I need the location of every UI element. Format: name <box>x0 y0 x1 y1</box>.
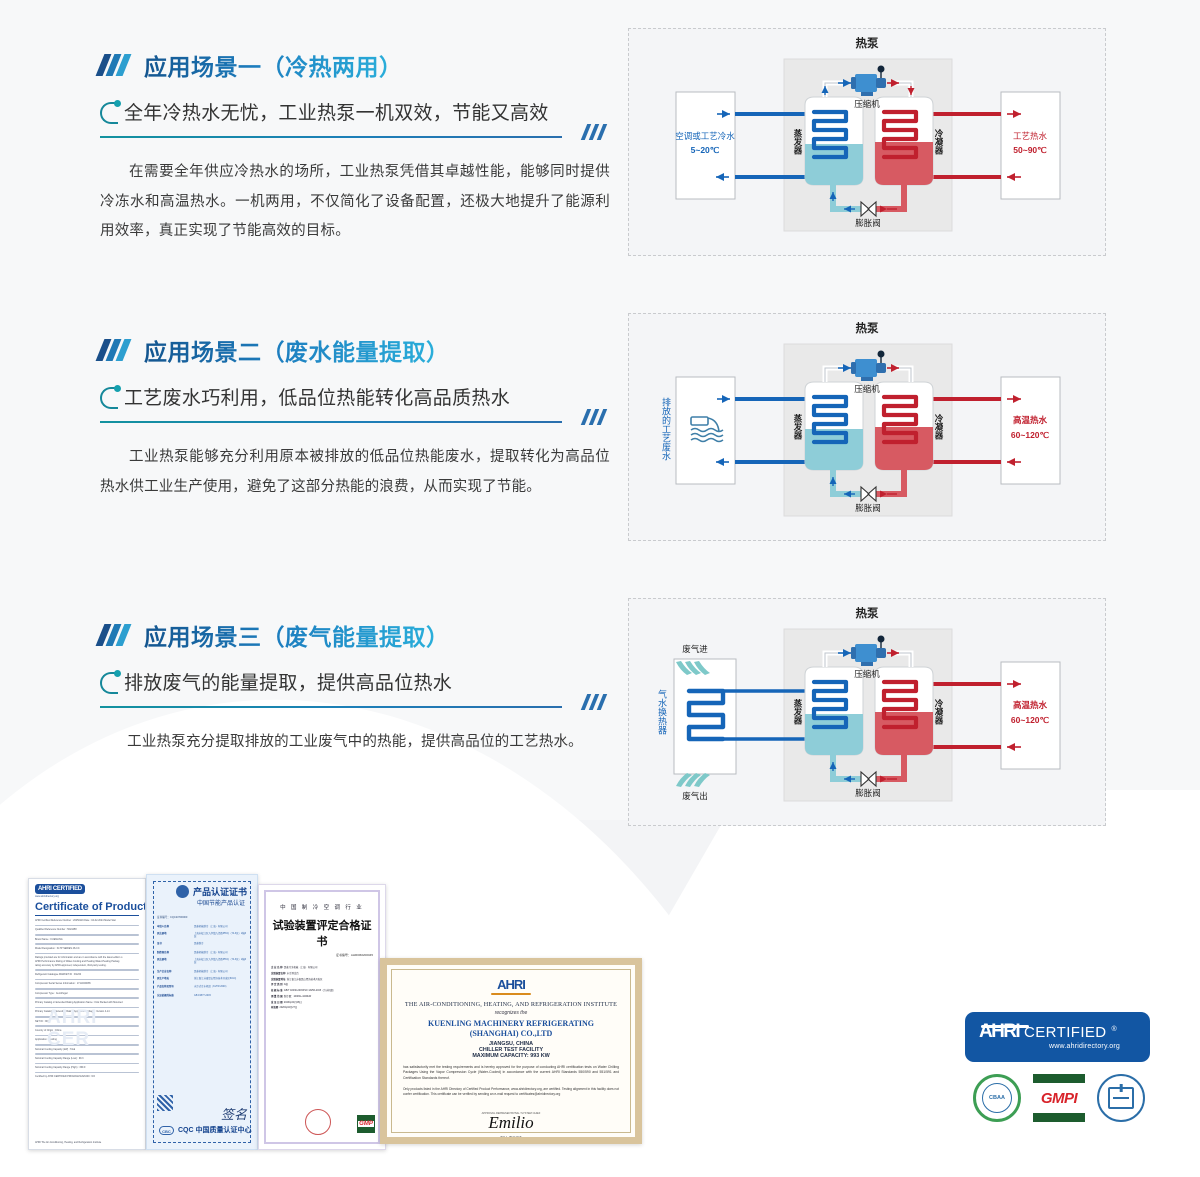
scenario-3-subtitle-wrap: 排放废气的能量提取，提供高品位热水 <box>100 668 610 710</box>
red-stamp-icon <box>305 1109 331 1135</box>
scenario-3-body: 工业热泵充分提取排放的工业废气中的热能，提供高品位的工艺热水。 <box>100 728 610 758</box>
exhaust-out-arrows-icon <box>676 773 710 787</box>
scenario-2-subtitle-wrap: 工艺废水巧利用，低品位热能转化高品质热水 <box>100 383 610 425</box>
ahri-facility-signer: BILL THUNS <box>403 1136 619 1140</box>
exhaust-inlet-label: 废气进 <box>682 644 708 654</box>
industry-logo-row: CBAA GMPI <box>973 1074 1165 1122</box>
ahri-facility-org: THE AIR-CONDITIONING, HEATING, AND REFRI… <box>403 1001 619 1008</box>
certificates-gallery: AHRI CERTIFIED www.ahridirectory.org Cer… <box>0 862 700 1162</box>
certificate-body-lines: AHRI Certified Reference Number : 202501… <box>35 919 139 1079</box>
diagram-1-svg: 压缩机 膨胀阀 蒸发器 冷凝器 空调或工艺冷水 5~20℃ 工艺热水 50~90… <box>629 29 1107 257</box>
qr-code-icon <box>157 1095 173 1111</box>
left-box-label-1: 空调或工艺冷水 <box>675 131 735 141</box>
right-box-value-1: 50~90℃ <box>1013 145 1047 155</box>
scenario-2-diagram: 热泵 <box>628 313 1106 541</box>
ahri-watermark: AHRI CER <box>47 1007 145 1051</box>
ahri-facility-body2: Only products listed in the AHRI Directo… <box>403 1087 619 1098</box>
certificate-footer: AHRI The Air-Conditioning, Heating, and … <box>35 1141 139 1145</box>
cnas-logo[interactable] <box>1097 1074 1145 1122</box>
scenario-2-title: 应用场景二（废水能量提取） <box>144 333 450 367</box>
cert3-fields: 企 业 名 称: 昆菱冷冻机械（上海）有限公司 试验装置名称: 水冷测试台 试验… <box>271 965 373 1011</box>
ahri-facility-capacity: MAXIMUM CAPACITY: 993 KW <box>403 1053 619 1059</box>
diagram-3-svg: 废气进 废气出 气水换热器 <box>629 599 1107 827</box>
subtitle-rule <box>100 136 562 138</box>
rule-slashes-icon <box>584 124 610 140</box>
right-box-value-3: 60~120℃ <box>1011 715 1050 725</box>
ahri-facility-signature: Emilio <box>403 1113 619 1133</box>
ahri-badge-brand: AHRI CERTIFIED <box>35 884 85 894</box>
right-box-label-1: 工艺热水 <box>1013 131 1048 141</box>
ahri-logo-url: www.ahridirectory.org <box>1049 1043 1120 1050</box>
certificate-ahri-facility[interactable]: AHRI THE AIR-CONDITIONING, HEATING, AND … <box>380 958 642 1144</box>
right-box-label-2: 高温热水 <box>1013 415 1048 425</box>
right-box-value-2: 60~120℃ <box>1011 430 1050 440</box>
rule-slashes-icon <box>584 409 610 425</box>
exhaust-outlet-label: 废气出 <box>682 791 708 801</box>
cert3-header: 中 国 制 冷 空 调 行 业 <box>271 903 373 911</box>
diagram-2-svg: 压缩机 膨胀阀 蒸发器 冷凝器 排放的工艺废水 <box>629 314 1107 542</box>
cqc-certno: 证书编号：CQC23700000 <box>157 915 247 919</box>
cert3-docno: 证书编号：AHRI060200045 <box>271 953 373 957</box>
slashes-icon <box>100 624 134 646</box>
scenario-1-text: 应用场景一（冷热两用） 全年冷热水无忧，工业热泵一机双效，节能又高效 在需要全年… <box>100 48 610 247</box>
cbaa-logo-label: CBAA <box>982 1083 1012 1113</box>
ahri-badge-url: www.ahridirectory.org <box>35 895 139 898</box>
ahri-facility-body1: has satisfactorily met the testing requi… <box>403 1065 619 1082</box>
cqc-fields: 申请人名称昆菱机械制冷（上海）有限公司 其注册地上海市松江区九亭镇九泾路655号… <box>157 925 247 998</box>
cqc-stamp: CQC 中国质量认证中心 <box>178 1125 252 1135</box>
subtitle-rule <box>100 706 562 708</box>
ahri-certified-logo[interactable]: AHRI CERTIFIED ® www.ahridirectory.org <box>965 1012 1150 1062</box>
scenario-2-text: 应用场景二（废水能量提取） 工艺废水巧利用，低品位热能转化高品质热水 工业热泵能… <box>100 333 610 502</box>
gmpi-logo-label: GMPI <box>1033 1083 1085 1113</box>
scenario-3-title: 应用场景三（废气能量提取） <box>144 618 450 652</box>
scenario-1-heading: 应用场景一（冷热两用） <box>100 48 610 82</box>
gmpi-logo[interactable]: GMPI <box>1033 1074 1085 1122</box>
condenser-label-1: 冷凝器 <box>934 128 944 155</box>
scenario-section-2: 应用场景二（废水能量提取） 工艺废水巧利用，低品位热能转化高品质热水 工业热泵能… <box>0 285 1200 575</box>
certification-logos: AHRI CERTIFIED ® www.ahridirectory.org C… <box>965 1012 1165 1132</box>
ahri-facility-recognizes: recognizes the <box>403 1010 619 1016</box>
scenario-1-subtitle: 全年冷热水无忧，工业热泵一机双效，节能又高效 <box>124 98 549 125</box>
scenario-1-body: 在需要全年供应冷热水的场所，工业热泵凭借其卓越性能，能够同时提供冷冻水和高温热水… <box>100 158 610 247</box>
compressor-label-1: 压缩机 <box>854 99 880 109</box>
ahri-logo-text: CERTIFIED <box>1024 1024 1107 1041</box>
scenario-3-heading: 应用场景三（废气能量提取） <box>100 618 610 652</box>
scenario-1-diagram: 热泵 <box>628 28 1106 256</box>
cqc-emblem-icon <box>176 885 189 898</box>
scenario-3-subtitle: 排放废气的能量提取，提供高品位热水 <box>124 668 452 695</box>
scenario-section-1: 应用场景一（冷热两用） 全年冷热水无忧，工业热泵一机双效，节能又高效 在需要全年… <box>0 0 1200 290</box>
certificate-title: Certificate of Product <box>35 901 139 913</box>
scenario-2-subtitle: 工艺废水巧利用，低品位热能转化高品质热水 <box>124 383 510 410</box>
cqc-subtitle: 中国节能产品认证 <box>157 898 245 907</box>
condenser-label-3: 冷凝器 <box>934 698 944 725</box>
expansion-valve-label-3: 膨胀阀 <box>855 788 881 798</box>
cqc-signature: 签名 <box>221 1104 247 1123</box>
certificate-ahri-product[interactable]: AHRI CERTIFIED www.ahridirectory.org Cer… <box>28 878 146 1150</box>
scenario-1-subtitle-wrap: 全年冷热水无忧，工业热泵一机双效，节能又高效 <box>100 98 610 140</box>
scenario-2-heading: 应用场景二（废水能量提取） <box>100 333 610 367</box>
compressor-label-3: 压缩机 <box>854 669 880 679</box>
scenario-1-title: 应用场景一（冷热两用） <box>144 48 403 82</box>
compressor-label-2: 压缩机 <box>854 384 880 394</box>
page-root: 应用场景一（冷热两用） 全年冷热水无忧，工业热泵一机双效，节能又高效 在需要全年… <box>0 0 1200 1177</box>
scenario-section-3: 应用场景三（废气能量提取） 排放废气的能量提取，提供高品位热水 工业热泵充分提取… <box>0 570 1200 860</box>
hook-icon <box>100 102 118 124</box>
slashes-icon <box>100 339 134 361</box>
certificate-cqc-energy[interactable]: 产品认证证书 中国节能产品认证 证书编号：CQC23700000 申请人名称昆菱… <box>146 874 258 1150</box>
cbaa-logo[interactable]: CBAA <box>973 1074 1021 1122</box>
subtitle-rule <box>100 421 562 423</box>
rule-slashes-icon <box>584 694 610 710</box>
scenario-2-body: 工业热泵能够充分利用原本被排放的低品位热能废水，提取转化为高品位热水供工业生产使… <box>100 443 610 502</box>
evaporator-label-3: 蒸发器 <box>793 698 803 725</box>
ahri-facility-signer-title: AHRI PRESIDENT / CHIEF EXECUTIVE <box>403 1140 619 1143</box>
ahri-logo-sup: ® <box>1112 1026 1117 1033</box>
evaporator-label-2: 蒸发器 <box>793 413 803 440</box>
expansion-valve-label-1: 膨胀阀 <box>855 218 881 228</box>
cert3-title: 试验装置评定合格证书 <box>271 917 373 949</box>
scenario-3-text: 应用场景三（废气能量提取） 排放废气的能量提取，提供高品位热水 工业热泵充分提取… <box>100 618 610 758</box>
left-box-label-2: 排放的工艺废水 <box>661 396 671 460</box>
left-box-value-1: 5~20℃ <box>691 145 720 155</box>
cbc-mark-icon: CBC <box>159 1126 174 1135</box>
evaporator-label-1: 蒸发器 <box>793 128 803 155</box>
ahri-facility-company: KUENLING MACHINERY REFRIGERATING (SHANGH… <box>403 1019 619 1039</box>
hook-icon <box>100 387 118 409</box>
gmpi-stamp-icon: GMP <box>357 1115 375 1133</box>
certificate-test-facility[interactable]: 中 国 制 冷 空 调 行 业 试验装置评定合格证书 证书编号：AHRI0602… <box>258 884 386 1150</box>
scenario-3-diagram: 热泵 废气进 <box>628 598 1106 826</box>
right-box-label-3: 高温热水 <box>1013 700 1048 710</box>
left-box-label-3: 气水换热器 <box>657 688 667 734</box>
expansion-valve-label-2: 膨胀阀 <box>855 503 881 513</box>
hook-icon <box>100 672 118 694</box>
slashes-icon <box>100 54 134 76</box>
ahri-facility-logo: AHRI <box>403 977 619 992</box>
cqc-title: 产品认证证书 <box>193 885 247 898</box>
condenser-label-2: 冷凝器 <box>934 413 944 440</box>
